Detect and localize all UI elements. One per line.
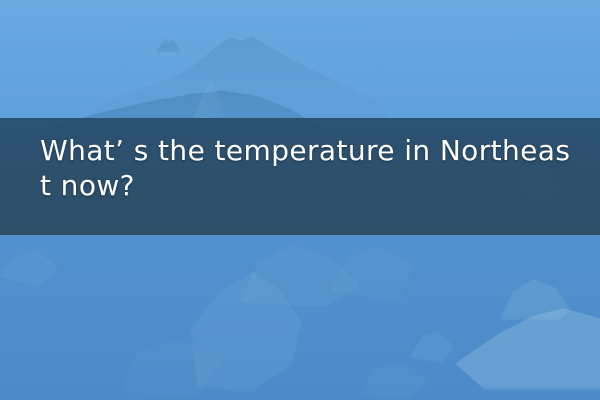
caption-text: What’ s the temperature in Northeast now… [40,133,574,203]
screenshot-canvas: What’ s the temperature in Northeast now… [0,0,600,400]
